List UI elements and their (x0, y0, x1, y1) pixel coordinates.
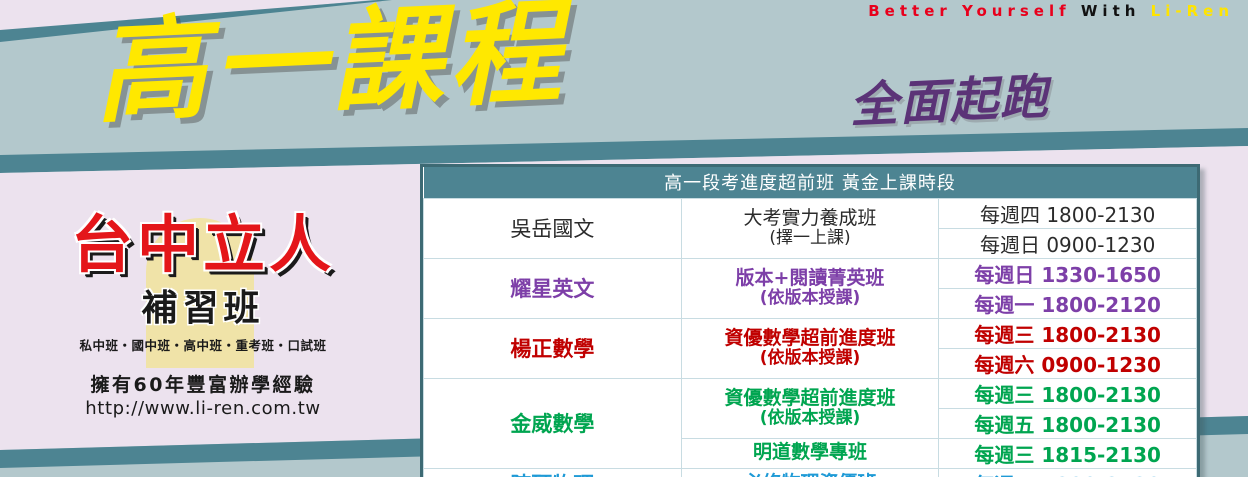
course-subtitle: (依版本授課) (682, 409, 939, 428)
logo-website-url[interactable]: http://www.li-ren.com.tw (38, 398, 368, 419)
course-cell-0: 大考實力養成班(擇一上課) (681, 198, 939, 258)
course-cell-1: 版本+閱讀菁英班(依版本授課) (681, 258, 939, 318)
time-cell: 每週三 1800-2130 (939, 318, 1197, 348)
time-cell: 每週日 1330-1650 (939, 258, 1197, 288)
teacher-cell-3: 金威數學 (424, 378, 682, 468)
time-cell: 每週日 0900-1230 (939, 228, 1197, 258)
course-cell-2: 資優數學超前進度班(依版本授課) (681, 318, 939, 378)
tagline-part2: Yourself (962, 2, 1071, 20)
teacher-cell-1: 耀星英文 (424, 258, 682, 318)
time-cell: 每週三 1800-2130 (939, 378, 1197, 408)
tagline-part3: With (1081, 2, 1141, 20)
time-cell: 每週三 1815-2130 (939, 438, 1197, 468)
logo-kind: 補習班 (38, 279, 368, 331)
course-cell-3: 資優數學超前進度班(依版本授課) (681, 378, 939, 438)
logo-experience: 擁有60年豐富辦學經驗 (38, 370, 368, 397)
table-row: 金威數學資優數學超前進度班(依版本授課)每週三 1800-2130 (424, 378, 1197, 408)
time-cell: 每週六 0900-1230 (939, 348, 1197, 378)
schedule-header-row: 高一段考進度超前班 黃金上課時段 (424, 167, 1197, 198)
tagline-part1: Better (868, 2, 952, 20)
course-cell-4: 必修物理資優班 (681, 468, 939, 477)
teacher-cell-2: 楊正數學 (424, 318, 682, 378)
time-cell: 每週四 1800-2130 (939, 198, 1197, 228)
course-subtitle: (依版本授課) (682, 349, 939, 368)
table-row: 吳岳國文大考實力養成班(擇一上課)每週四 1800-2130 (424, 198, 1197, 228)
sub-title: 全面起跑 (848, 57, 1051, 136)
main-title: 高一課程 (92, 0, 569, 135)
teacher-cell-4: 陳碩物理 (424, 468, 682, 477)
logo-class-list: 私中班・國中班・高中班・重考班・口試班 (38, 335, 368, 354)
time-cell: 每週二 1800-2120 (939, 468, 1197, 477)
schedule-body: 吳岳國文大考實力養成班(擇一上課)每週四 1800-2130每週日 0900-1… (424, 198, 1197, 477)
table-row: 耀星英文版本+閱讀菁英班(依版本授課)每週日 1330-1650 (424, 258, 1197, 288)
table-row: 楊正數學資優數學超前進度班(依版本授課)每週三 1800-2130 (424, 318, 1197, 348)
tagline: Better Yourself With Li-Ren (868, 2, 1234, 20)
schedule-table: 高一段考進度超前班 黃金上課時段 吳岳國文大考實力養成班(擇一上課)每週四 18… (423, 167, 1197, 477)
course-subtitle: (擇一上課) (682, 229, 939, 248)
course-subtitle: (依版本授課) (682, 289, 939, 308)
logo: 台中立人 補習班 私中班・國中班・高中班・重考班・口試班 擁有60年豐富辦學經驗… (38, 212, 368, 419)
schedule-title: 高一段考進度超前班 黃金上課時段 (424, 167, 1197, 198)
schedule-table-container: 高一段考進度超前班 黃金上課時段 吳岳國文大考實力養成班(擇一上課)每週四 18… (420, 164, 1200, 477)
course-cell-3: 明道數學專班 (681, 438, 939, 468)
teacher-cell-0: 吳岳國文 (424, 198, 682, 258)
poster-root: Better Yourself With Li-Ren 高一課程 全面起跑 台中… (0, 0, 1248, 477)
table-row: 陳碩物理必修物理資優班每週二 1800-2120 (424, 468, 1197, 477)
tagline-part4: Li-Ren (1151, 2, 1234, 20)
time-cell: 每週一 1800-2120 (939, 288, 1197, 318)
time-cell: 每週五 1800-2130 (939, 408, 1197, 438)
logo-name: 台中立人 (38, 212, 368, 277)
